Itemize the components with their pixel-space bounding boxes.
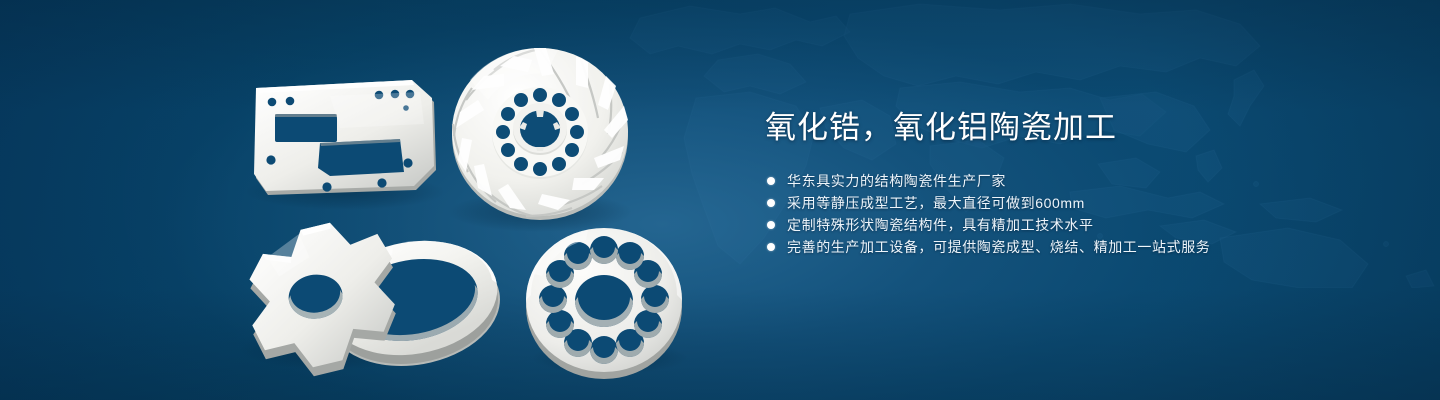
list-item: 华东具实力的结构陶瓷件生产厂家 [767, 170, 1365, 192]
product-photo-group [0, 0, 720, 400]
list-item: 定制特殊形状陶瓷结构件，具有精加工技术水平 [767, 214, 1365, 236]
hero-banner: 氧化锆，氧化铝陶瓷加工 华东具实力的结构陶瓷件生产厂家 采用等静压成型工艺，最大… [0, 0, 1440, 400]
list-item-label: 采用等静压成型工艺，最大直径可做到600mm [787, 192, 1085, 214]
list-item: 完善的生产加工设备，可提供陶瓷成型、烧结、精加工一站式服务 [767, 236, 1365, 258]
ceramic-impeller-disc [452, 48, 628, 220]
feature-list: 华东具实力的结构陶瓷件生产厂家 采用等静压成型工艺，最大直径可做到600mm 定… [767, 170, 1365, 258]
ceramic-plate-with-cutouts [254, 80, 436, 195]
bullet-dot-icon [767, 243, 775, 251]
ceramic-perforated-disc [526, 228, 682, 379]
list-item-label: 华东具实力的结构陶瓷件生产厂家 [787, 170, 1006, 192]
list-item-label: 定制特殊形状陶瓷结构件，具有精加工技术水平 [787, 214, 1094, 236]
bullet-dot-icon [767, 221, 775, 229]
bullet-dot-icon [767, 177, 775, 185]
bullet-dot-icon [767, 199, 775, 207]
list-item: 采用等静压成型工艺，最大直径可做到600mm [767, 192, 1365, 214]
banner-copy: 氧化锆，氧化铝陶瓷加工 华东具实力的结构陶瓷件生产厂家 采用等静压成型工艺，最大… [765, 108, 1365, 258]
page-title: 氧化锆，氧化铝陶瓷加工 [765, 108, 1365, 148]
list-item-label: 完善的生产加工设备，可提供陶瓷成型、烧结、精加工一站式服务 [787, 236, 1210, 258]
